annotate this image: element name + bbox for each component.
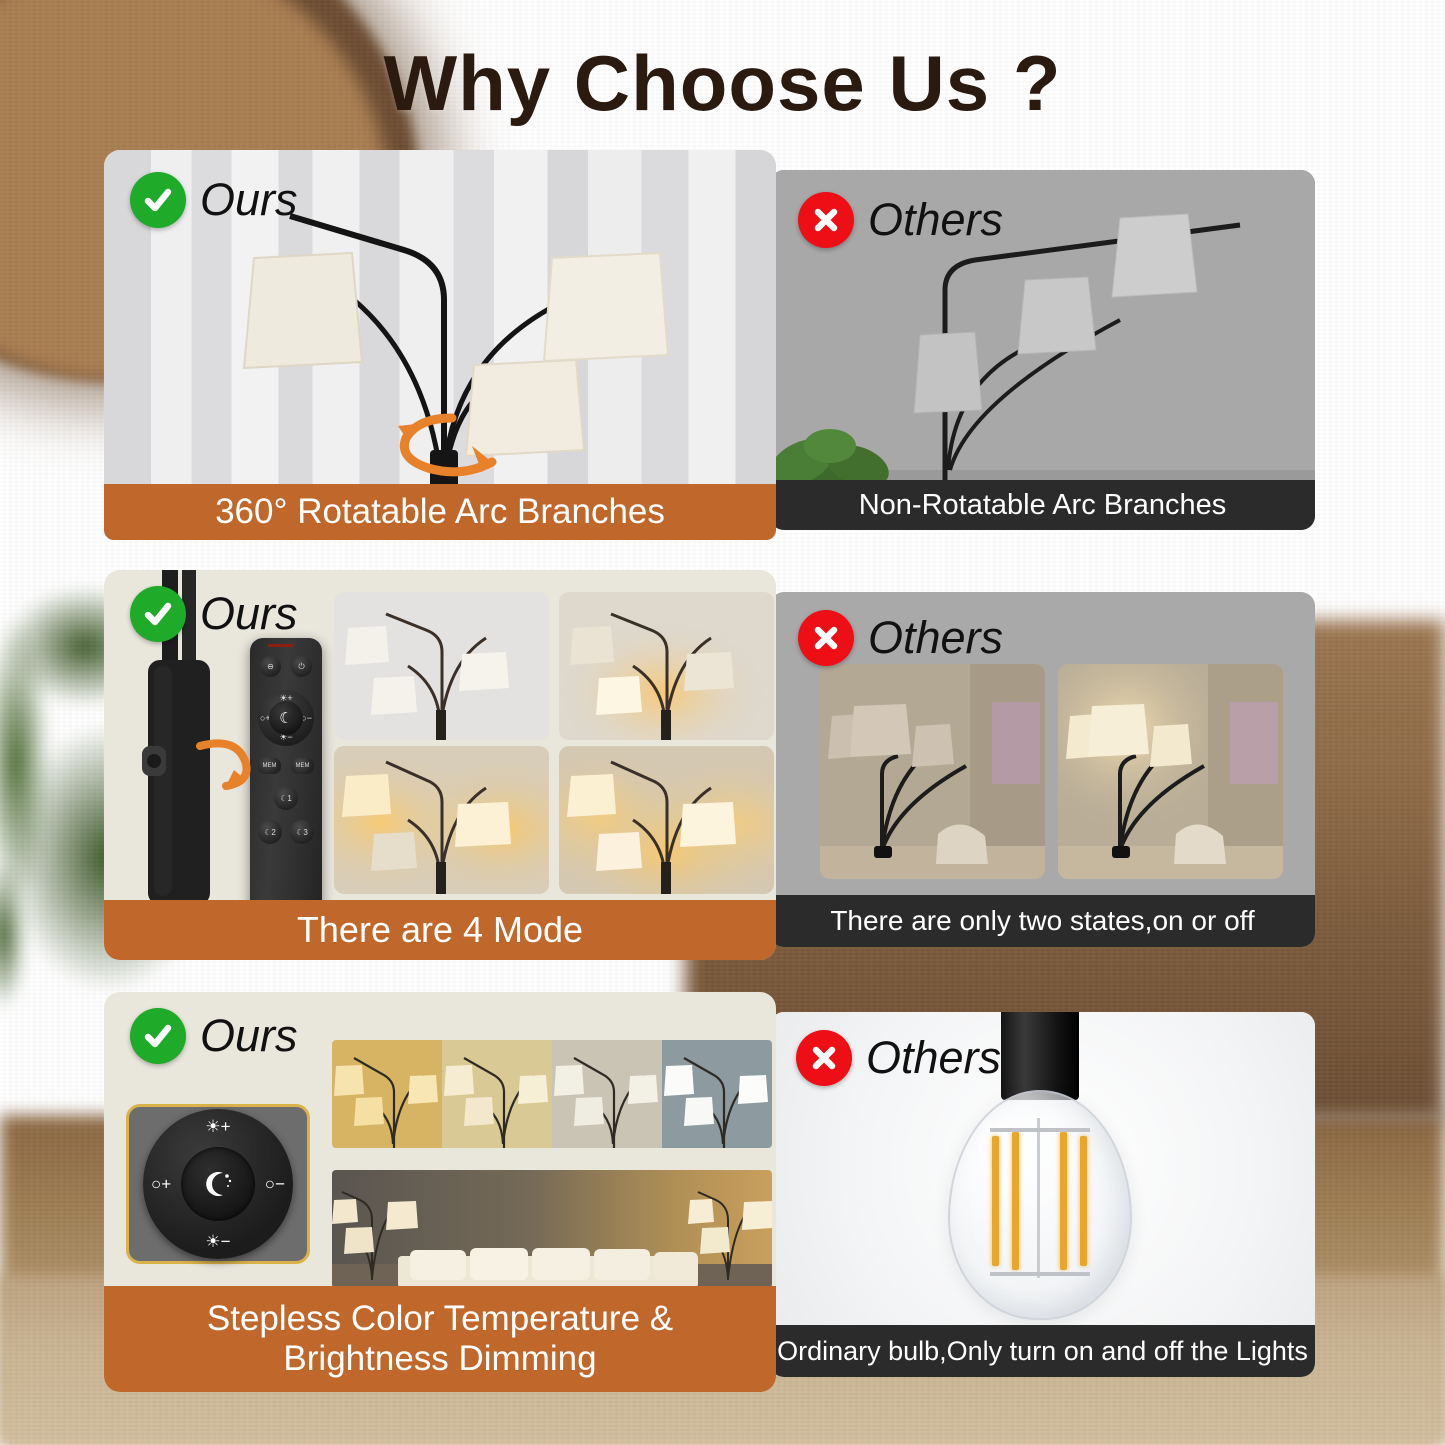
row-2-others-label: Others (868, 612, 1003, 664)
night-mode-button[interactable]: ☾ (269, 701, 303, 735)
row-2-ours-label: Ours (200, 588, 298, 640)
filament-bottom-bar (990, 1272, 1090, 1276)
dimmer-ring[interactable]: ☀+ ☀− ○+ ○− (143, 1109, 293, 1259)
filament-top-bar (990, 1128, 1090, 1132)
row-1-others-card: Others Non-Rotatable Arc Branches (770, 170, 1315, 530)
dimmer-control-pad[interactable]: ☀+ ☀− ○+ ○− (126, 1104, 310, 1264)
filament-2 (1012, 1132, 1019, 1270)
row-2-thumb-mode-2 (559, 592, 774, 740)
color-temp-up-button[interactable]: ○+ (151, 1176, 171, 1193)
rotate-arrow-icon (190, 730, 262, 794)
check-icon (130, 172, 186, 228)
filament-4 (1080, 1136, 1087, 1266)
light-1-button[interactable]: ☾1 (274, 786, 298, 810)
row-1-ours-card: Ours 360° Rotatable Arc Branches (104, 150, 776, 540)
page-title: Why Choose Us ? (0, 38, 1445, 129)
row-3-ours-caption-line2: Brightness Dimming (283, 1339, 596, 1379)
brightness-down-button[interactable]: ☀− (205, 1233, 230, 1250)
timer-button[interactable]: ⊖ (260, 656, 281, 677)
check-icon (130, 1008, 186, 1064)
row-2-ours-caption: There are 4 Mode (104, 900, 776, 960)
row-1-others-caption: Non-Rotatable Arc Branches (770, 480, 1315, 530)
filament-3 (1060, 1132, 1067, 1270)
row-2-ours-badge: Ours (130, 586, 298, 642)
row-1-ours-caption: 360° Rotatable Arc Branches (104, 484, 776, 540)
filament-1 (992, 1136, 999, 1266)
row-3-ours-badge: Ours (130, 1008, 298, 1064)
row-1-others-label: Others (868, 194, 1003, 246)
row-3-ours-caption: Stepless Color Temperature & Brightness … (104, 1286, 776, 1392)
row-3-others-badge: Others (796, 1030, 1001, 1086)
color-temperature-strip (332, 1040, 772, 1148)
bulb-base (1001, 1012, 1079, 1100)
row-3-others-card: Others Ordinary bulb,Only turn on and of… (770, 1012, 1315, 1377)
color-temp-down-button[interactable]: ○− (265, 1176, 285, 1193)
check-icon (130, 586, 186, 642)
row-2-thumb-mode-1 (334, 592, 549, 740)
filament-stem (1037, 1118, 1040, 1278)
row-3-ours-card: Ours ☀+ ☀− ○+ ○− (104, 992, 776, 1392)
row-3-ours-label: Ours (200, 1010, 298, 1062)
row-2-thumb-mode-3 (334, 746, 549, 894)
remote-control-pad[interactable]: ☀+ ☀− ○+ ○− ☾ (258, 690, 314, 746)
row-2-others-thumb-off (820, 664, 1045, 879)
row-2-thumb-mode-4 (559, 746, 774, 894)
row-2-others-caption: There are only two states,on or off (770, 895, 1315, 947)
living-room-scene (332, 1170, 772, 1288)
row-3-others-label: Others (866, 1032, 1001, 1084)
cross-icon (798, 192, 854, 248)
row-1-ours-label: Ours (200, 174, 298, 226)
remote-ir-led (268, 644, 294, 647)
power-button[interactable]: ⏻ (291, 656, 312, 677)
cross-icon (796, 1030, 852, 1086)
row-1-others-badge: Others (798, 192, 1003, 248)
light-2-button[interactable]: ☾2 (258, 820, 282, 844)
row-2-others-badge: Others (798, 610, 1003, 666)
row-2-others-thumb-on (1058, 664, 1283, 879)
memory-right-button[interactable]: MEM (291, 758, 314, 774)
light-3-button[interactable]: ☾3 (290, 820, 314, 844)
row-3-ours-caption-line1: Stepless Color Temperature & (207, 1299, 673, 1339)
row-2-others-card: Others (770, 592, 1315, 947)
row-2-ours-card: Ours ⊖ ⏻ ☀+ ☀− ○+ ○− ☾ MEM MEM ☾1 ☾2 ☾3 (104, 570, 776, 960)
brightness-up-button[interactable]: ☀+ (205, 1118, 230, 1135)
row-1-ours-badge: Ours (130, 172, 298, 228)
rotate-360-arrow-icon (390, 402, 510, 482)
cross-icon (798, 610, 854, 666)
night-mode-moon-icon[interactable] (181, 1147, 255, 1221)
row-3-others-caption: Ordinary bulb,Only turn on and off the L… (770, 1325, 1315, 1377)
